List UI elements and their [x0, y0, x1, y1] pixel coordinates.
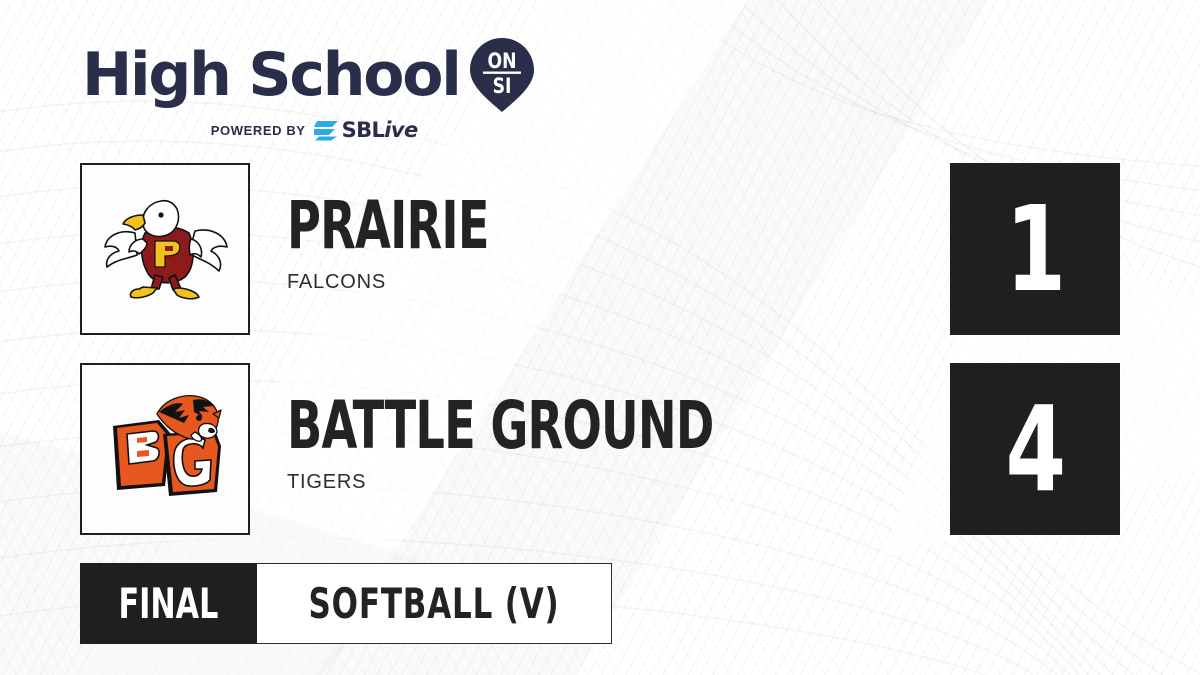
team-mascot: TIGERS	[287, 471, 834, 494]
badge-on-text: ON	[487, 48, 516, 73]
team-logo-card-prairie	[80, 163, 250, 335]
sport-label-container: SOFTBALL (V)	[257, 563, 612, 644]
brand-title-row: High School ON SI	[82, 36, 536, 114]
badge-si-text: SI	[492, 73, 511, 98]
team-logo-image-prairie	[82, 165, 248, 333]
sblive-logo: SBLive	[313, 120, 418, 141]
brand-lockup: High School ON SI POWERED BY SBLive	[82, 36, 536, 141]
on-si-badge: ON SI	[468, 36, 536, 114]
prairie-falcons-eagle-logo-icon	[99, 189, 231, 309]
battle-ground-tigers-bg-logo-icon	[99, 390, 231, 508]
score-value: 1	[1006, 190, 1065, 308]
team-name: BATTLE GROUND	[287, 395, 714, 457]
team-text-prairie: PRAIRIE FALCONS	[287, 195, 546, 294]
team-text-battle-ground: BATTLE GROUND TIGERS	[287, 395, 834, 494]
team-mascot: FALCONS	[287, 271, 546, 294]
powered-by-label: POWERED BY	[211, 123, 306, 138]
team-name: PRAIRIE	[287, 195, 489, 257]
game-status-bar: FINAL SOFTBALL (V)	[80, 563, 612, 644]
status-badge-label: FINAL	[118, 579, 218, 628]
sport-label: SOFTBALL (V)	[308, 579, 559, 628]
sblive-bold-text: SBL	[342, 118, 385, 142]
powered-by-row: POWERED BY SBLive	[82, 120, 536, 141]
team-logo-image-battle-ground	[82, 365, 248, 533]
map-pin-icon: ON SI	[468, 36, 536, 114]
score-value: 4	[1006, 390, 1065, 508]
brand-title: High School	[82, 45, 460, 105]
score-box-battle-ground: 4	[950, 363, 1120, 535]
sblive-italic-text: ive	[384, 118, 417, 142]
sblive-bolt-icon	[313, 120, 339, 141]
score-box-prairie: 1	[950, 163, 1120, 335]
sblive-wordmark: SBLive	[342, 120, 418, 141]
status-badge: FINAL	[80, 563, 257, 644]
team-logo-card-battle-ground	[80, 363, 250, 535]
